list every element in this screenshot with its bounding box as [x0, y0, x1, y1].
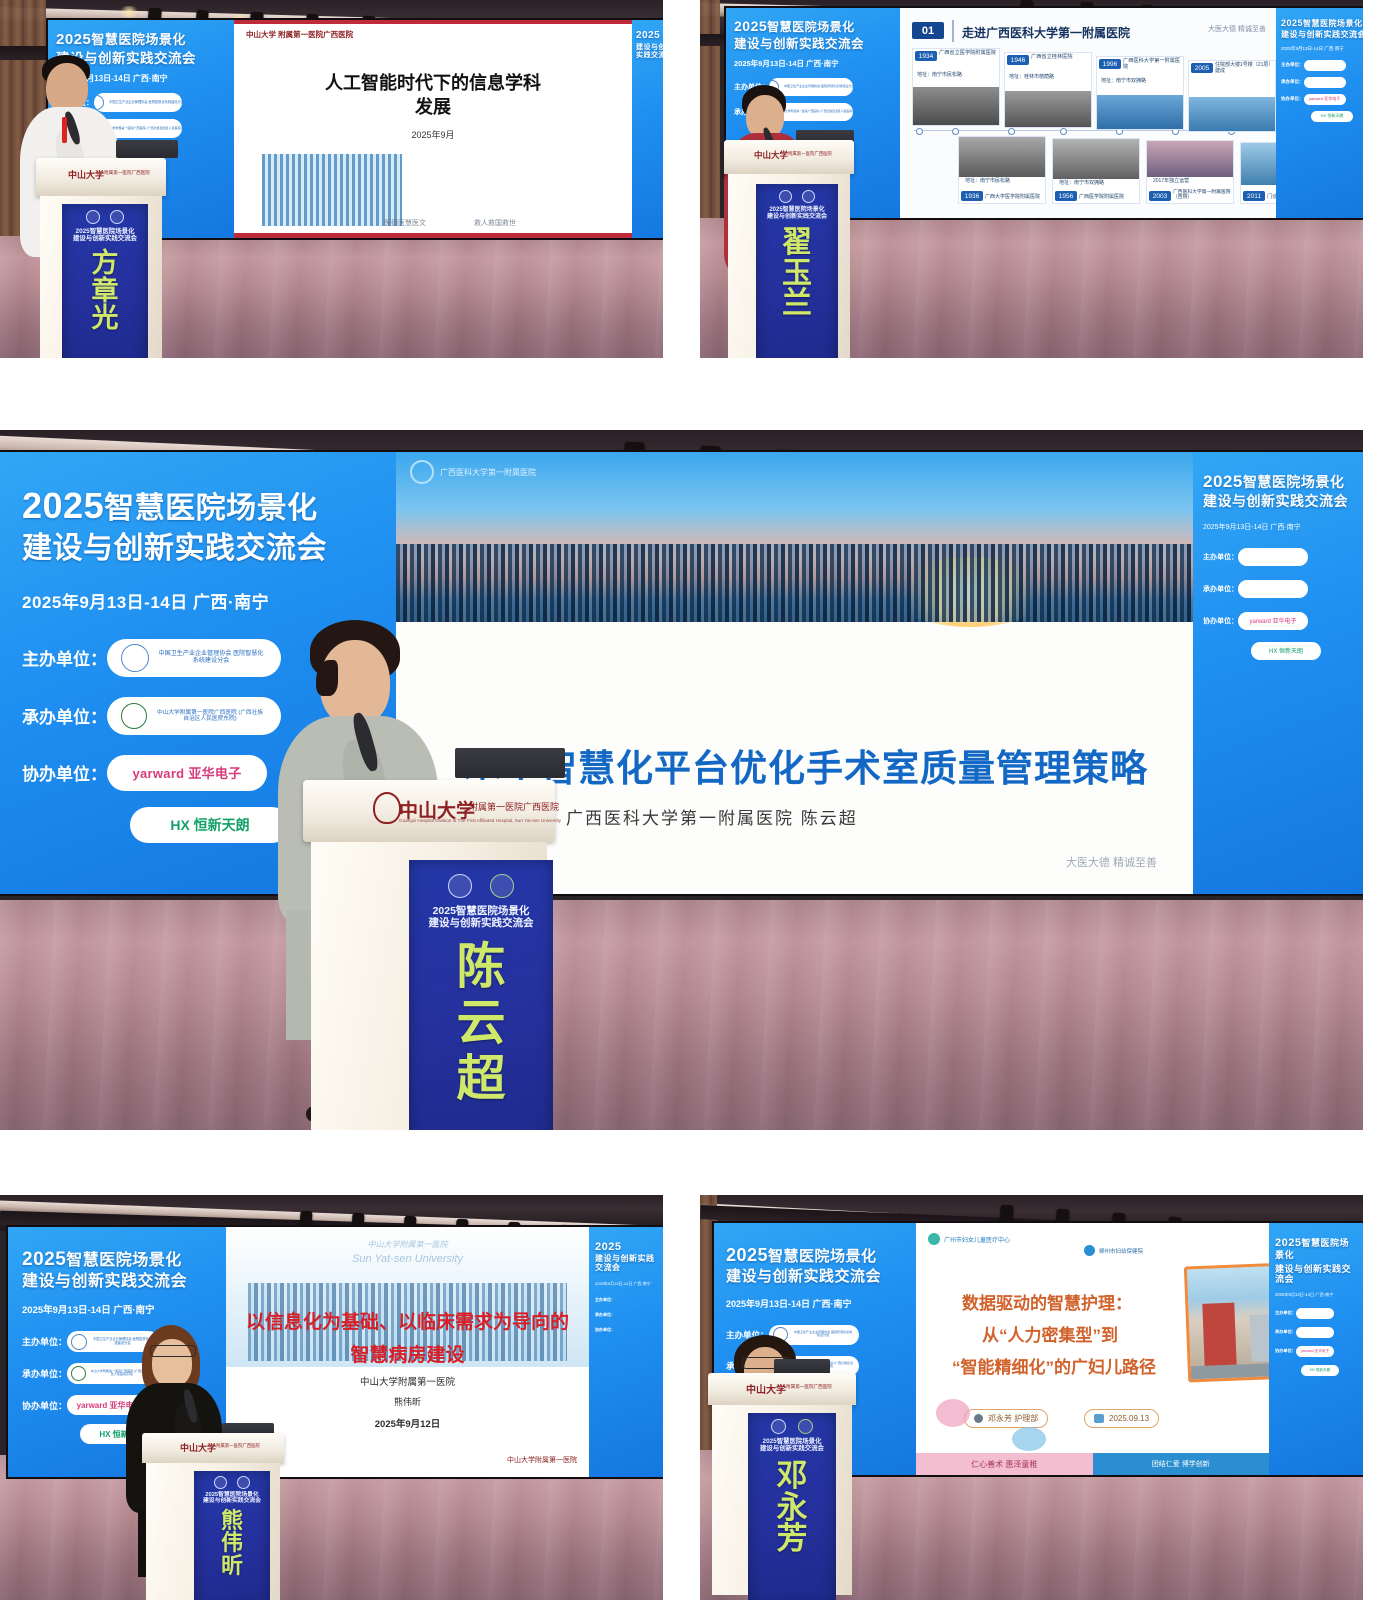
- timeline-name: 住院部大楼1号楼（21层）建成: [1215, 63, 1273, 75]
- timeline-card: 地址：南宁市民松路 1936 广西大学医学院附属医院: [958, 136, 1046, 204]
- event-title-rest: 智慧医院场景化: [104, 492, 318, 525]
- slide-title-line1: 人工智能时代下的信息学科: [234, 72, 632, 95]
- seal-icon-right: [237, 1476, 250, 1489]
- event-title-rest: 智慧医院场景化: [66, 1252, 182, 1269]
- calendar-icon: [1094, 1414, 1104, 1423]
- timeline-year: 2005: [1191, 63, 1213, 73]
- speaker-nameplate: 2025智慧医院场景化 建设与创新实践交流会 熊 伟 昕: [194, 1471, 270, 1600]
- university-crest-icon: [373, 792, 401, 824]
- timeline-name: 广西医学院附属医院: [1079, 195, 1137, 201]
- event-year: 2025: [22, 1249, 66, 1270]
- photo-gallery: 2025智慧医院场景化 建设与创新实践交流会 2025年9月13日-14日 广西…: [0, 0, 1391, 1600]
- timeline-name: 广西省立医学院附属医院: [939, 51, 997, 57]
- host-label-right: 承办单位：: [595, 1312, 615, 1318]
- sponsor-2-label-right: HX 恒新天朗: [1269, 646, 1303, 655]
- event-year: 2025: [56, 31, 91, 48]
- timeline-year: 1934: [915, 51, 937, 61]
- slide-title-line2: 从“人力密集型”到: [982, 1321, 1118, 1346]
- host-chip-right: [1238, 580, 1308, 598]
- presenter-chip-label: 邓永芳 护理部: [988, 1413, 1038, 1424]
- event-title-line2: 建设与创新实践交流会: [734, 37, 892, 51]
- organization-seal-icon: [121, 644, 149, 672]
- hospital-illustration: [262, 154, 402, 226]
- seal-icon-left: [779, 190, 792, 203]
- slide-watermark: 大医大德 精诚至善: [1066, 854, 1157, 870]
- timeline-photo: [1005, 91, 1091, 127]
- event-banner-right: 2025 建设与创新实践交流会: [632, 20, 663, 238]
- slide-ai-title: 中山大学 附属第一医院广西医院 人工智能时代下的信息学科 发展 2025年9月 …: [234, 20, 632, 238]
- slide-footer-left: 医德医慧医文: [384, 218, 426, 228]
- slide-footer-right: 救人救国救世: [474, 218, 516, 228]
- timeline-card: 1996 广西医科大学第一附属医院 地址：南宁市双拥路: [1096, 56, 1184, 130]
- host-name: 中山大学附属第一医院广西医院 (广西壮族自治区人民医院东院): [156, 710, 264, 722]
- slide-logo-1: 广州市妇女儿童医疗中心: [944, 1235, 1010, 1244]
- title-divider: [952, 20, 954, 42]
- floor: [0, 900, 1363, 1130]
- slide-title-line2: 发展: [234, 96, 632, 119]
- event-year-right: 2025: [595, 1241, 657, 1253]
- laptop: [116, 140, 178, 158]
- event-year-right: 2025: [1275, 1237, 1301, 1249]
- timeline-year: 1946: [1007, 55, 1029, 65]
- timeline-photo: [1189, 97, 1275, 131]
- seal-icon-left: [771, 1419, 786, 1434]
- podium-logo-sub: 附属第一医院广西医院: [788, 151, 832, 157]
- event-banner-right: 2025智慧医院场景化 建设与创新实践交流会 2025年9月13日-14日 广西…: [1193, 452, 1363, 894]
- speaker-name-char-2: 永: [777, 1492, 808, 1524]
- podium-logo: 中山大学: [180, 1441, 216, 1454]
- speaker-name-char-1: 方: [92, 250, 119, 278]
- event-title2-right: 建设与创新实践交流会: [1203, 494, 1353, 510]
- slide-title-line1: 数据驱动的智慧护理：: [962, 1289, 1132, 1314]
- slide-date: 2025年9月12日: [226, 1416, 589, 1430]
- sponsor-1-right: yarward 亚华电子: [1304, 94, 1346, 105]
- event-date-right: 2025年9月13日-14日 广西·南宁: [1275, 1292, 1357, 1298]
- timeline-detail: 地址：南宁市民松路: [917, 73, 995, 79]
- timeline-card: 1934 广西省立医学院附属医院 地址：南宁市民松路: [912, 48, 1000, 126]
- timeline-card: 1946 广西省立桂林医院 地址：桂林市榕荫路: [1004, 52, 1092, 128]
- seal-icon-right: [798, 1419, 813, 1434]
- slide-title-line2: 智慧病房建设: [226, 1340, 589, 1367]
- skyline-silhouette: [396, 544, 1193, 622]
- organizer-chip-right: [1238, 548, 1308, 566]
- nameplate-header-2: 建设与创新实践交流会: [760, 1445, 824, 1452]
- event-year-right: 2025: [1281, 18, 1303, 28]
- slide-nursing-title: 广州市妇女儿童医疗中心 柳州市妇幼保健院 数据驱动的智慧护理： 从“人力密集型”…: [916, 1223, 1269, 1475]
- podium[interactable]: 中山大学 附属第一医院广西医院 2025智慧医院场景化 建设与创新实践交流会 熊…: [142, 1433, 284, 1600]
- coorganizer-label-right: 协办单位：: [1281, 96, 1304, 102]
- event-year: 2025: [22, 485, 104, 526]
- university-seal-icon: [121, 703, 147, 729]
- podium-logo: 中山大学: [68, 168, 104, 181]
- event-banner-right: 2025智慧医院场景化 建设与创新实践交流会 2025年9月13日-14日 广西…: [1276, 8, 1363, 218]
- organizer-name: 中国卫生产业企业管理协会 医院智慧化系统建设分会: [158, 652, 264, 665]
- slide-org: 中山大学附属第一医院: [226, 1374, 589, 1388]
- podium-logo-sub: 附属第一医院广西医院: [469, 800, 559, 813]
- event-date-place: 2025年9月13日-14日 广西·南宁: [22, 1302, 212, 1316]
- timeline-photo: [959, 137, 1045, 177]
- event-date-right: 2025年9月13日-14日 广西·南宁: [1203, 522, 1353, 532]
- organizer-label: 主办单位：: [22, 1335, 67, 1348]
- organizer-label-right: 主办单位：: [1275, 1310, 1296, 1316]
- speaker-name-char-3: 昕: [221, 1555, 243, 1577]
- decor-blob-pink: [936, 1399, 970, 1427]
- speaker-name-char-1: 陈: [456, 943, 505, 993]
- timeline-detail: 地址：南宁市双拥路: [1059, 181, 1137, 187]
- laptop: [455, 748, 565, 778]
- led-screen: 2025智慧医院场景化 建设与创新实践交流会 2025年9月13日-14日 广西…: [0, 452, 1363, 894]
- organizer-label: 主办单位：: [22, 645, 107, 670]
- host-label: 承办单位：: [22, 1367, 67, 1380]
- podium[interactable]: 中山大学 附属第一医院广西医院 2025智慧医院场景化 建设与创新实践交流会 翟…: [724, 140, 854, 358]
- event-title-rest-right: 智慧医院场景化: [1243, 474, 1345, 490]
- sponsor-chip-2: HX 恒新天朗: [130, 807, 290, 843]
- speaker-name-char-1: 熊: [221, 1510, 243, 1532]
- host-chip: 中山大学附属第一医院广西医院 (广西壮族自治区人民医院东院): [107, 697, 281, 735]
- slide-top-rule: [234, 20, 632, 24]
- sponsor-2-right: HX 恒新天朗: [1311, 111, 1353, 122]
- host-label-right: 承办单位：: [1281, 79, 1304, 85]
- nameplate-seals: [760, 190, 834, 203]
- sponsor-chip-2-right: HX 恒新天朗: [1251, 642, 1321, 660]
- event-title2-right: 建设与创新实践交流会: [1281, 31, 1363, 40]
- podium-logo-sub: 附属第一医院广西医院: [104, 170, 150, 176]
- eyeglasses-icon: [150, 1345, 196, 1357]
- timeline-detail: 地址：桂林市榕荫路: [1009, 75, 1087, 81]
- slide-logo-1-group: 广州市妇女儿童医疗中心: [928, 1233, 1010, 1245]
- section-title: 走进广西医科大学第一附属医院: [962, 24, 1130, 41]
- speaker-name-char-1: 翟: [782, 228, 812, 259]
- nameplate-seals: [66, 210, 144, 224]
- podium[interactable]: 中山大学 附属第一医院广西医院 Guangxi Hospital Divisio…: [303, 780, 555, 1130]
- coorganizer-label-right: 协办单位：: [1275, 1348, 1296, 1354]
- speaker-nameplate: 2025智慧医院场景化 建设与创新实践交流会 方 章 光: [62, 204, 148, 358]
- sponsor-1-label: yarward 亚华电子: [132, 763, 241, 782]
- photo-bottom-right[interactable]: 2025智慧医院场景化 建设与创新实践交流会 2025年9月13日-14日 广西…: [700, 1195, 1363, 1600]
- date-chip-label: 2025.09.13: [1109, 1414, 1149, 1423]
- event-date-right: 2025年9月13日-14日 广西·南宁: [595, 1281, 657, 1287]
- slide-sky-text-1: 中山大学附属第一医院: [226, 1239, 589, 1250]
- timeline-year: 2003: [1149, 191, 1171, 201]
- photo-top-right[interactable]: 2025智慧医院场景化 建设与创新实践交流会 2025年9月13日-14日 广西…: [700, 0, 1363, 358]
- gz-hospital-logo-icon: [928, 1233, 940, 1245]
- slide-bottom-rule: [234, 233, 632, 238]
- slide-header-logo: 中山大学 附属第一医院广西医院: [246, 29, 353, 40]
- timeline-photo: [1097, 95, 1183, 129]
- event-title-line2: 建设与创新实践交流会: [22, 1273, 212, 1291]
- timeline-card: 地址：南宁市双拥路 1956 广西医学院附属医院: [1052, 138, 1140, 204]
- podium[interactable]: 中山大学 附属第一医院广西医院 2025智慧医院场景化 建设与创新实践交流会 邓…: [708, 1373, 856, 1595]
- timeline-card: 2005 住院部大楼1号楼（21层）建成: [1188, 60, 1276, 132]
- led-screen: 2025智慧医院场景化 建设与创新实践交流会 2025年9月13日-14日 广西…: [8, 1227, 663, 1477]
- photo-main[interactable]: 2025智慧医院场景化 建设与创新实践交流会 2025年9月13日-14日 广西…: [0, 430, 1363, 1130]
- podium-logo-en: Guangxi Hospital Division of The First A…: [399, 818, 561, 823]
- seal-icon-left: [448, 874, 472, 898]
- section-number-badge: 01: [912, 22, 944, 39]
- coorganizer-label: 协办单位：: [22, 1399, 67, 1412]
- event-title-line2: 建设与创新实践交流会: [726, 1269, 904, 1286]
- slide-history-timeline: 01 走进广西医科大学第一附属医院 大医大德 精诚至善: [900, 8, 1276, 218]
- date-chip: 2025.09.13: [1084, 1409, 1159, 1428]
- timeline-photo: [1053, 139, 1139, 179]
- podium-logo: 中山大学: [746, 1381, 786, 1396]
- timeline-name: 广西医科大学第一附属医院: [1123, 59, 1181, 71]
- event-year: 2025: [726, 1245, 768, 1265]
- event-title-rest: 智慧医院场景化: [91, 32, 186, 47]
- timeline-detail: 2017年独立运营: [1153, 179, 1231, 185]
- timeline-detail: 地址：南宁市民松路: [965, 179, 1043, 185]
- host-label-right: 承办单位：: [1275, 1329, 1296, 1335]
- slide-title-line1: 以信息化为基础、以临床需求为导向的: [226, 1307, 589, 1334]
- campus-photo: [1184, 1260, 1269, 1383]
- sponsor-1-label-right: yarward 亚华电子: [1296, 1346, 1334, 1357]
- event-date-right: 2025年9月13日-14日 广西·南宁: [1281, 46, 1363, 52]
- event-title-rest-right: 智慧医院场景化: [1303, 19, 1363, 28]
- slide-title-line3: “智能精细化”的广妇儿路径: [952, 1353, 1156, 1378]
- slide-seal-text: 大医大德 精诚至善: [1208, 26, 1266, 34]
- photo-bottom-left[interactable]: 2025智慧医院场景化 建设与创新实践交流会 2025年9月13日-14日 广西…: [0, 1195, 663, 1600]
- decor-blob-blue: [1012, 1427, 1046, 1451]
- slide-header-logo: 广西医科大学第一附属医院: [440, 467, 536, 478]
- event-date-place: 2025年9月13日-14日 广西·南宁: [734, 58, 892, 69]
- nameplate-header-2: 建设与创新实践交流会: [73, 235, 137, 242]
- timeline-photo: [1147, 141, 1233, 177]
- speaker-name-char-3: 芳: [777, 1523, 808, 1555]
- photo-top-left[interactable]: 2025智慧医院场景化 建设与创新实践交流会 2025年9月13日-14日 广西…: [0, 0, 663, 358]
- slide-sky-text-2: Sun Yat-sen University: [226, 1253, 589, 1265]
- event-date-place: 2025年9月13日-14日 广西·南宁: [726, 1297, 904, 1310]
- sponsor-chip-1-right: yarward 亚华电子: [1238, 612, 1308, 630]
- seal-icon-right: [802, 190, 815, 203]
- timeline-year: 2011: [1243, 191, 1265, 201]
- speaker-nameplate: 2025智慧医院场景化 建设与创新实践交流会 陈 云 超: [409, 860, 553, 1130]
- event-title-line2: 建设与创新实践交流会: [22, 532, 374, 566]
- slide-footer: 仁心善术 惠泽童稚 团结仁爱 博学创新: [916, 1453, 1269, 1475]
- event-title2-right: 建设与创新实践交流会: [1275, 1264, 1357, 1284]
- nameplate-header-2: 建设与创新实践交流会: [429, 918, 534, 930]
- slide-footer-left: 仁心善术 惠泽童稚: [916, 1453, 1093, 1475]
- nameplate-header-1: 2025智慧医院场景化: [769, 207, 824, 214]
- event-title-rest: 智慧医院场景化: [767, 20, 855, 34]
- sponsor-chip-1: yarward 亚华电子: [107, 755, 267, 791]
- sponsor-2-label-right: HX 恒新天朗: [1301, 1365, 1339, 1376]
- event-year-right: 2025: [636, 30, 663, 41]
- event-year: 2025: [734, 18, 767, 34]
- timeline-photo: [913, 87, 999, 125]
- sponsor-1-label-right: yarward 亚华电子: [1249, 616, 1296, 625]
- seal-icon-left: [86, 210, 100, 224]
- speaker-name-char-2: 玉: [782, 259, 812, 290]
- speaker-name-char-1: 邓: [777, 1460, 808, 1492]
- sponsor-2-label: HX 恒新天朗: [170, 815, 249, 835]
- coorganizer-label-right: 协办单位：: [1203, 616, 1238, 626]
- podium-logo-sub: 附属第一医院广西医院: [786, 1384, 832, 1390]
- speaker-name-char-3: 超: [456, 1055, 505, 1105]
- person-icon: [974, 1414, 983, 1423]
- organizer-label-right: 主办单位：: [1281, 62, 1304, 68]
- timeline-name: 广西医科大学第一附属医院（西院）: [1173, 190, 1231, 201]
- nameplate-seals: [197, 1476, 267, 1489]
- slide-title: 基于智慧化平台优化手术室质量管理策略: [464, 738, 1148, 792]
- presenter-chip: 邓永芳 护理部: [964, 1409, 1048, 1428]
- slide-logo-2: 柳州市妇幼保健院: [1099, 1247, 1143, 1255]
- timeline-year: 1996: [1099, 59, 1121, 69]
- seal-icon-right: [490, 874, 514, 898]
- podium[interactable]: 中山大学 附属第一医院广西医院 2025智慧医院场景化 建设与创新实践交流会 方…: [36, 158, 166, 358]
- speaker-name-char-3: 兰: [782, 289, 812, 320]
- timeline-photo: [1241, 143, 1276, 185]
- timeline-card: 2011 门诊综合大楼落成: [1240, 142, 1276, 204]
- speaker-name-char-2: 伟: [221, 1532, 243, 1554]
- slide-corner-logo: 中山大学附属第一医院: [507, 1455, 577, 1465]
- event-title2-right: 建设与创新实践交流会: [595, 1255, 657, 1273]
- nameplate-header-2: 建设与创新实践交流会: [767, 214, 827, 221]
- host-label: 承办单位：: [22, 703, 107, 728]
- seal-icon-right: [110, 210, 124, 224]
- nameplate-header-1: 2025智慧医院场景化: [433, 906, 530, 918]
- timeline-card: 2017年独立运营 2003 广西医科大学第一附属医院（西院）: [1146, 140, 1234, 204]
- timeline-name: 广西大学医学院附属医院: [985, 195, 1043, 201]
- timeline-year: 1936: [961, 191, 983, 201]
- timeline-year: 1956: [1055, 191, 1077, 201]
- timeline-detail: 地址：南宁市双拥路: [1101, 79, 1179, 85]
- timeline-name: 广西省立桂林医院: [1031, 55, 1089, 61]
- slide-byline: 广西医科大学第一附属医院 陈云超: [566, 804, 858, 829]
- event-date-place: 2025年9月13日-14日 广西·南宁: [22, 588, 374, 613]
- speaker-name-char-2: 章: [92, 278, 119, 306]
- hair-side: [316, 660, 338, 696]
- slide-header-logo-group: 广西医科大学第一附属医院: [410, 460, 536, 484]
- event-title-rest: 智慧医院场景化: [768, 1248, 877, 1265]
- speaker-nameplate: 2025智慧医院场景化 建设与创新实践交流会 翟 玉 兰: [756, 184, 838, 358]
- event-year-right: 2025: [1203, 472, 1243, 491]
- coorganizer-label: 协办单位：: [22, 760, 107, 785]
- timeline-name: 门诊综合大楼落成: [1267, 195, 1276, 201]
- nameplate-seals: [417, 874, 545, 898]
- organizer-chip: 中国卫生产业企业管理协会 医院智慧化系统建设分会: [107, 639, 281, 677]
- podium-logo-sub: 附属第一医院广西医院: [216, 1443, 260, 1449]
- organizer-label-right: 主办单位：: [595, 1297, 615, 1303]
- podium-logo: 中山大学: [754, 149, 788, 161]
- slide-logo-2-group: 柳州市妇幼保健院: [1084, 1245, 1143, 1256]
- speaker-nameplate: 2025智慧医院场景化 建设与创新实践交流会 邓 永 芳: [748, 1413, 836, 1600]
- event-title-right: 建设与创新实践交流会: [636, 44, 663, 60]
- nameplate-header-1: 2025智慧医院场景化: [763, 1438, 822, 1445]
- speaker-name-char-2: 云: [456, 999, 505, 1049]
- slide-date: 2025年9月: [234, 128, 632, 141]
- slide-footer-right: 团结仁爱 博学创新: [1093, 1453, 1270, 1475]
- seal-icon-left: [214, 1476, 227, 1489]
- nameplate-header-2: 建设与创新实践交流会: [203, 1498, 261, 1504]
- speaker-name-char-3: 光: [92, 305, 119, 333]
- slide-presenter: 熊伟昕: [226, 1395, 589, 1408]
- nameplate-seals: [752, 1419, 832, 1434]
- hospital-emblem-icon: [410, 460, 434, 484]
- event-banner-right: 2025 建设与创新实践交流会 2025年9月13日-14日 广西·南宁 主办单…: [589, 1227, 663, 1477]
- coorganizer-label-right: 协办单位：: [595, 1327, 615, 1333]
- organizer-label-right: 主办单位：: [1203, 552, 1238, 562]
- floor-reflection: [0, 900, 1363, 1130]
- lz-hospital-logo-icon: [1084, 1245, 1095, 1256]
- nameplate-header-1: 2025智慧医院场景化: [76, 228, 135, 235]
- event-banner-right: 2025智慧医院场景化 建设与创新实践交流会 2025年9月13日-14日 广西…: [1269, 1223, 1363, 1475]
- host-label-right: 承办单位：: [1203, 584, 1238, 594]
